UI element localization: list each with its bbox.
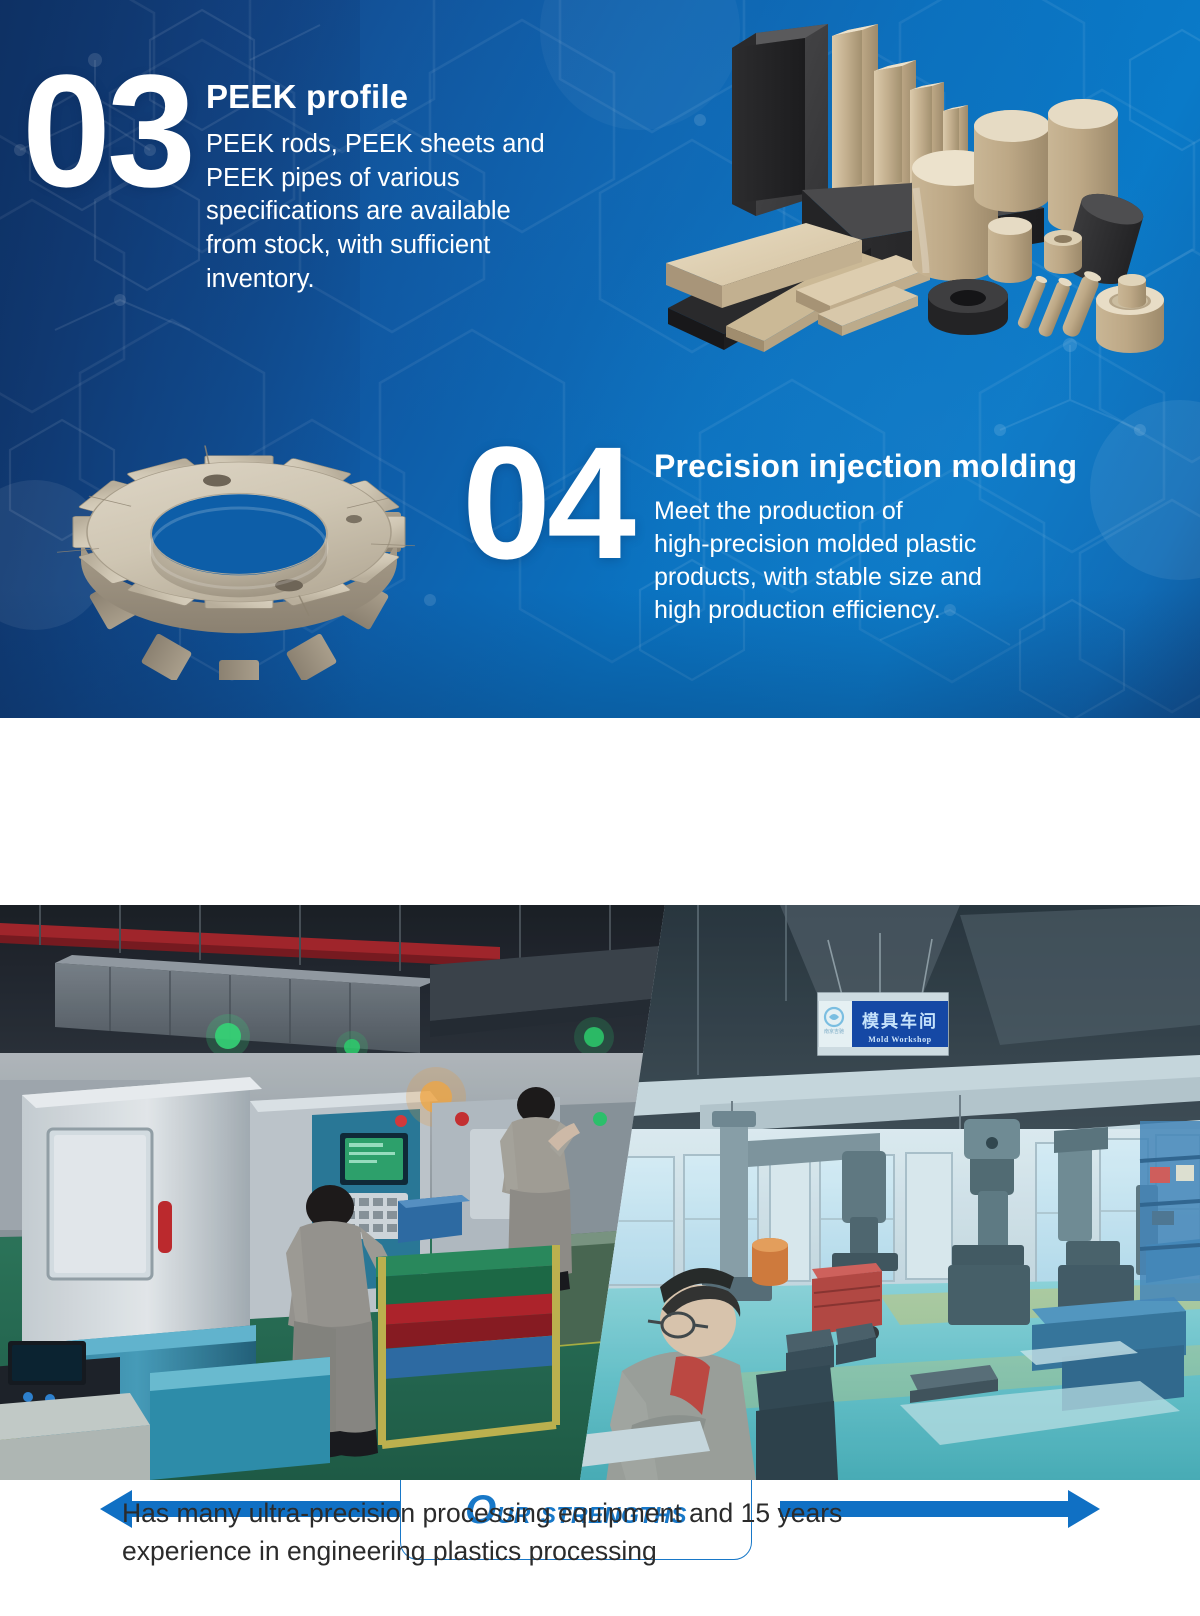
factory-photo-strip: 模具车间 Mold Workshop 南京吉驰	[0, 905, 1200, 1480]
strengths-banner: Our strengths	[0, 718, 1200, 905]
feature-number-04: 04	[462, 436, 632, 570]
feature-title-03: PEEK profile	[206, 80, 545, 115]
feature-number-03: 03	[22, 64, 192, 198]
mold-workshop-photo: 模具车间 Mold Workshop 南京吉驰	[580, 905, 1200, 1480]
peek-gear-ring-photo	[34, 402, 444, 680]
feature-description-03: PEEK rods, PEEK sheets and PEEK pipes of…	[206, 128, 545, 298]
feature-item-03: 03 PEEK profile PEEK rods, PEEK sheets a…	[22, 62, 682, 297]
feature-title-04: Precision injection molding	[654, 450, 1077, 484]
footer-caption: Has many ultra-precision processing equi…	[0, 1495, 1200, 1570]
hero-section: 03 PEEK profile PEEK rods, PEEK sheets a…	[0, 0, 1200, 718]
feature-description-04: Meet the production of high-precision mo…	[654, 495, 1077, 628]
peek-profile-products-photo	[666, 8, 1200, 363]
feature-item-04: 04 Precision injection molding Meet the …	[462, 434, 1182, 628]
cnc-machining-workshop-photo	[0, 905, 672, 1480]
footer-caption-text: Has many ultra-precision processing equi…	[122, 1495, 1200, 1570]
